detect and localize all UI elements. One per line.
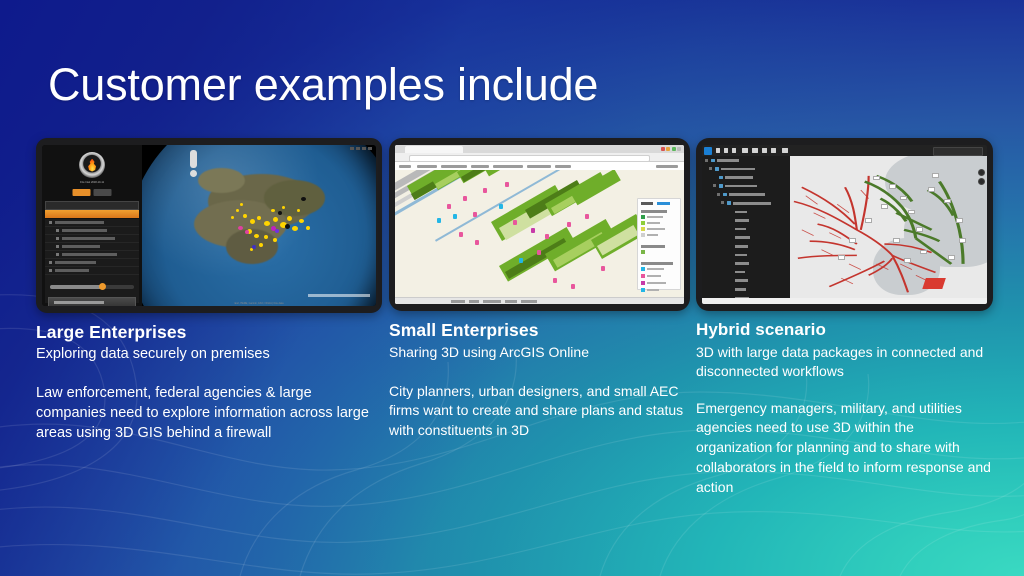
secondary-button[interactable]: [94, 189, 112, 196]
column-small-enterprises: Small Enterprises Sharing 3D using ArcGI…: [389, 138, 690, 441]
search-input[interactable]: [933, 147, 983, 156]
map-legend-panel[interactable]: [637, 198, 681, 290]
column-body: City planners, urban designers, and smal…: [389, 382, 690, 441]
dark-globe-3d-application: Fire Intel 2018-10-11: [42, 145, 376, 306]
layer-row[interactable]: [45, 251, 139, 259]
zoom-slider-control[interactable]: [190, 150, 197, 168]
tree-item[interactable]: [702, 242, 790, 251]
flame-badge-icon: [79, 152, 105, 178]
active-tool-button[interactable]: [704, 147, 712, 155]
layer-row[interactable]: [45, 235, 139, 243]
window-controls[interactable]: [350, 147, 372, 150]
column-body: Emergency managers, military, and utilit…: [696, 399, 993, 498]
layer-panel-title-bar: [45, 201, 139, 210]
arcgis-online-web-map-browser: [395, 145, 684, 304]
tree-item[interactable]: [702, 251, 790, 260]
layer-row[interactable]: [45, 219, 139, 227]
tree-item[interactable]: [702, 190, 790, 199]
column-heading: Hybrid scenario: [696, 320, 993, 340]
layer-list: [45, 219, 139, 303]
tree-item[interactable]: [702, 259, 790, 268]
layer-group-row[interactable]: [48, 297, 136, 306]
contents-tree-panel[interactable]: [702, 156, 791, 298]
browser-address-bar[interactable]: [395, 153, 684, 162]
globe-viewport[interactable]: Esri, HERE, Garmin, FAO, NOAA | Fire dat…: [142, 145, 376, 306]
layer-row[interactable]: [45, 227, 139, 235]
tree-item[interactable]: [702, 225, 790, 234]
viewport-control-dots[interactable]: [978, 169, 985, 187]
url-input[interactable]: [409, 155, 650, 162]
tree-item[interactable]: [702, 156, 790, 165]
arcgis-pro-desktop-network-map: [702, 145, 987, 304]
tree-item[interactable]: [702, 276, 790, 285]
browser-tab-bar[interactable]: [395, 145, 684, 153]
screenshot-frame-arcgis-online[interactable]: [389, 138, 690, 311]
tree-item[interactable]: [702, 285, 790, 294]
page-title: Customer examples include: [48, 60, 598, 110]
utility-network-lines: [790, 156, 987, 298]
column-heading: Small Enterprises: [389, 320, 690, 340]
selected-extent-box: [922, 278, 945, 289]
column-heading: Large Enterprises: [36, 322, 382, 342]
active-layer-group-header[interactable]: [45, 210, 139, 218]
scale-bar: [308, 294, 370, 297]
scene-viewport[interactable]: [790, 156, 987, 298]
tree-item[interactable]: [702, 268, 790, 277]
column-body: Law enforcement, federal agencies & larg…: [36, 383, 382, 443]
map-attribution: Esri, HERE, Garmin, FAO, NOAA | Fire dat…: [142, 302, 376, 305]
column-subtitle: 3D with large data packages in connected…: [696, 343, 993, 381]
globe-app-side-panel: Fire Intel 2018-10-11: [42, 145, 142, 306]
tree-item[interactable]: [702, 208, 790, 217]
flame-glyph: [87, 159, 98, 172]
tree-item[interactable]: [702, 199, 790, 208]
status-bar: [702, 298, 987, 304]
tree-item[interactable]: [702, 173, 790, 182]
layer-row[interactable]: [45, 267, 139, 275]
opacity-slider[interactable]: [50, 285, 134, 289]
window-controls[interactable]: [661, 147, 682, 151]
tree-item[interactable]: [702, 182, 790, 191]
screenshot-frame-dark-globe-app[interactable]: Fire Intel 2018-10-11: [36, 138, 382, 313]
panel-caption: Fire Intel 2018-10-11: [42, 181, 142, 184]
tree-item[interactable]: [702, 165, 790, 174]
layer-row[interactable]: [45, 259, 139, 267]
browser-tab[interactable]: [405, 146, 463, 153]
column-subtitle: Sharing 3D using ArcGIS Online: [389, 343, 690, 362]
column-subtitle: Exploring data securely on premises: [36, 345, 382, 364]
slide-root: Customer examples include Fire Intel 201…: [0, 0, 1024, 576]
tree-item[interactable]: [702, 233, 790, 242]
layer-row[interactable]: [45, 243, 139, 251]
primary-button[interactable]: [73, 189, 91, 196]
screenshot-frame-arcgis-pro[interactable]: [696, 138, 993, 311]
panel-button-group[interactable]: [73, 189, 112, 196]
column-hybrid-scenario: Hybrid scenario 3D with large data packa…: [696, 138, 993, 498]
web-map-canvas[interactable]: [395, 170, 684, 304]
map-status-bar: [395, 297, 684, 304]
column-large-enterprises: Fire Intel 2018-10-11: [36, 138, 382, 443]
tree-item[interactable]: [702, 216, 790, 225]
